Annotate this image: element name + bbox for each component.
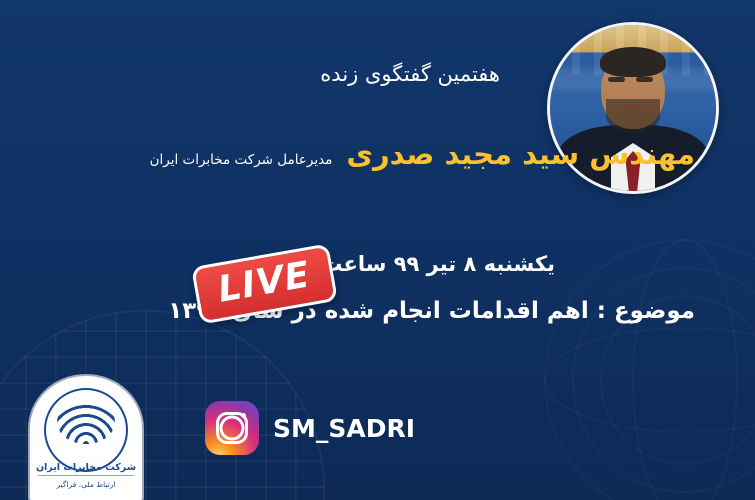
swirl-decoration-right xyxy=(535,230,755,500)
speaker-name: مهندس سید مجید صدری xyxy=(346,137,695,171)
logo-wave-icon xyxy=(57,400,115,444)
portrait-hair xyxy=(600,47,666,77)
instagram-icon[interactable] xyxy=(205,401,259,455)
speaker-role: مدیرعامل شرکت مخابرات ایران xyxy=(150,152,333,168)
logo-divider xyxy=(38,475,134,476)
portrait-eyebrow-left xyxy=(608,77,625,82)
live-broadcast-poster: هفتمین گفتگوی زنده مهندس سید مجید صدری م… xyxy=(0,0,755,500)
portrait-eyebrow-right xyxy=(636,77,653,82)
instagram-handle: SM_SADRI xyxy=(273,414,415,443)
speaker-row: مهندس سید مجید صدری مدیرعامل شرکت مخابرا… xyxy=(150,137,695,171)
instagram-row[interactable]: SM_SADRI xyxy=(205,401,415,455)
tci-logo: شرکت مخابرات ایران ارتباط ملی، فراگیر xyxy=(30,376,142,500)
logo-slogan: ارتباط ملی، فراگیر xyxy=(30,480,142,489)
logo-company-name: شرکت مخابرات ایران xyxy=(30,462,142,473)
portrait-mouth xyxy=(622,105,644,109)
headline-text: هفتمین گفتگوی زنده xyxy=(320,62,500,86)
